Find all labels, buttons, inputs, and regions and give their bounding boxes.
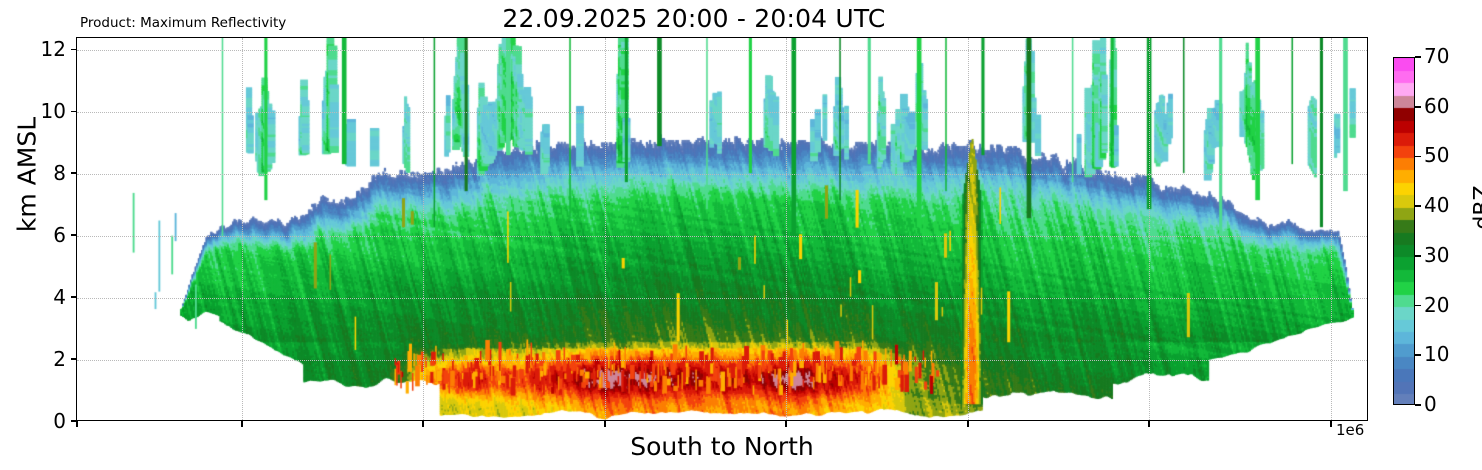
colorbar-tick-mark: [1415, 56, 1421, 58]
colorbar-tick-label: 20: [1424, 295, 1449, 315]
gridline-horizontal: [77, 360, 1367, 362]
x-tick-mark: [967, 421, 969, 427]
colorbar-tick-mark: [1415, 305, 1421, 307]
colorbar-tick-label: 60: [1424, 96, 1449, 116]
colorbar-tick-label: 30: [1424, 245, 1449, 265]
gridline-vertical: [786, 38, 788, 420]
x-tick-mark: [241, 421, 243, 427]
colorbar-tick-mark: [1415, 205, 1421, 207]
colorbar-unit-label: dBZ: [1471, 163, 1482, 253]
colorbar-tick-mark: [1415, 106, 1421, 108]
gridline-vertical: [968, 38, 970, 420]
x-tick-mark: [1330, 421, 1332, 427]
colorbar-tick-label: 0: [1424, 394, 1437, 414]
colorbar-tick-label: 40: [1424, 195, 1449, 215]
colorbar-tick-mark: [1415, 354, 1421, 356]
y-tick-label: 0: [0, 411, 66, 431]
y-tick-label: 4: [0, 287, 66, 307]
colorbar-tick-mark: [1415, 156, 1421, 158]
colorbar-tick-mark: [1415, 404, 1421, 406]
y-tick-label: 2: [0, 349, 66, 369]
x-tick-mark: [422, 421, 424, 427]
x-tick-mark: [604, 421, 606, 427]
y-tick-label: 8: [0, 163, 66, 183]
gridline-horizontal: [77, 50, 1367, 52]
gridline-horizontal: [77, 112, 1367, 114]
gridline-horizontal: [77, 236, 1367, 238]
chart-title: 22.09.2025 20:00 - 20:04 UTC: [0, 4, 1388, 33]
colorbar-gradient: [1394, 58, 1415, 405]
x-axis-label: South to North: [76, 432, 1368, 461]
x-axis-offset-label: 1e6: [1336, 421, 1364, 439]
x-tick-mark: [76, 421, 78, 427]
gridline-horizontal: [77, 174, 1367, 176]
colorbar-tick-label: 50: [1424, 145, 1449, 165]
x-tick-mark: [1148, 421, 1150, 427]
reflectivity-field: [77, 38, 1368, 421]
gridline-vertical: [1149, 38, 1151, 420]
y-tick-label: 12: [0, 39, 66, 59]
colorbar-tick-label: 10: [1424, 344, 1449, 364]
colorbar-tick-mark: [1415, 255, 1421, 257]
plot-area: [76, 37, 1368, 421]
colorbar: [1393, 57, 1415, 405]
gridline-vertical: [605, 38, 607, 420]
colorbar-tick-label: 70: [1424, 46, 1449, 66]
y-tick-label: 6: [0, 225, 66, 245]
x-tick-mark: [785, 421, 787, 427]
radar-cross-section-figure: Product: Maximum Reflectivity 22.09.2025…: [0, 0, 1482, 470]
y-tick-label: 10: [0, 101, 66, 121]
gridline-vertical: [1331, 38, 1333, 420]
gridline-vertical: [242, 38, 244, 420]
gridline-horizontal: [77, 298, 1367, 300]
gridline-vertical: [423, 38, 425, 420]
